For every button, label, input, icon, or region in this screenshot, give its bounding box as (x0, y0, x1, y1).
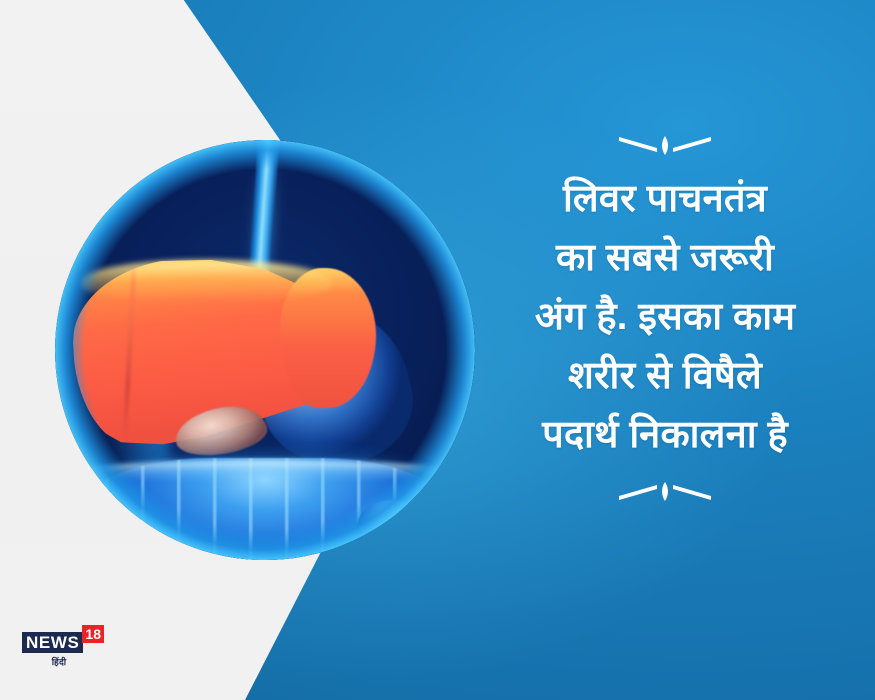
infographic-canvas: लिवर पाचनतंत्र का सबसे जरूरी अंग है. इसक… (0, 0, 875, 700)
headline-line-4: शरीर से विषैले (470, 347, 860, 406)
news18-hindi-logo: NEWS 18 हिंदी (22, 632, 110, 668)
logo-18-badge: 18 (82, 625, 104, 643)
headline-line-1: लिवर पाचनतंत्र (470, 170, 860, 229)
liver-top-highlight (81, 260, 331, 302)
headline-text: लिवर पाचनतंत्र का सबसे जरूरी अंग है. इसक… (470, 170, 860, 465)
liver-digestive-system-illustration (55, 140, 475, 560)
headline-block: लिवर पाचनतंत्र का सबसे जरूरी अंग है. इसक… (470, 132, 860, 505)
headline-line-3: अंग है. इसका काम (470, 288, 860, 347)
large-intestine-highlight (81, 460, 449, 482)
headline-line-2: का सबसे जरूरी (470, 229, 860, 288)
headline-line-5: पदार्थ निकालना है (470, 406, 860, 465)
logo-news-word: NEWS (22, 632, 83, 653)
flourish-wings-icon (617, 479, 713, 505)
flourish-wings-icon (617, 132, 713, 158)
logo-language-label: हिंदी (22, 655, 110, 668)
